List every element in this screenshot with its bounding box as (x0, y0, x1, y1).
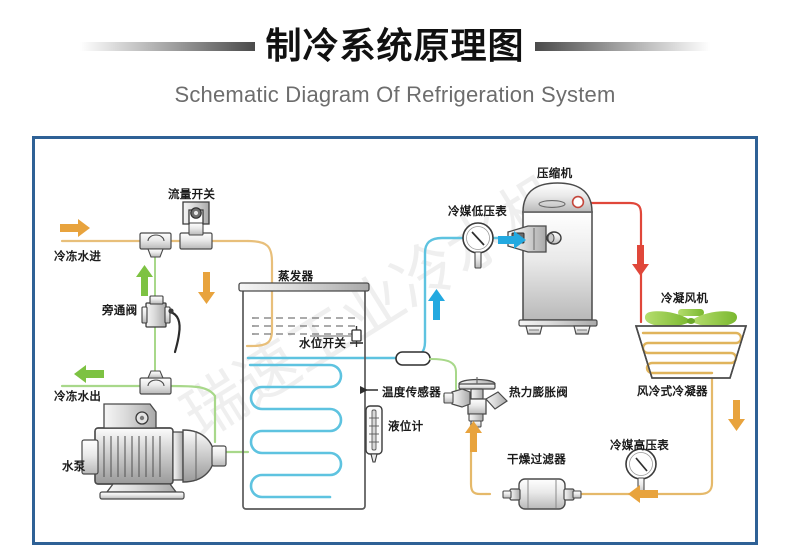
title-rule-right (535, 42, 710, 51)
page-title: 制冷系统原理图 (255, 24, 534, 68)
title-rule-left (80, 42, 255, 51)
label-hp-gauge: 冷媒高压表 (610, 437, 669, 453)
label-air-cooled-condenser: 风冷式冷凝器 (637, 383, 708, 399)
label-flow-switch: 流量开关 (168, 186, 215, 202)
label-chilled-water-in: 冷冻水进 (54, 248, 101, 264)
label-water-pump: 水泵 (62, 458, 86, 474)
label-bypass-valve: 旁通阀 (102, 302, 137, 318)
schematic-page: 制冷系统原理图 Schematic Diagram Of Refrigerati… (0, 0, 790, 556)
label-compressor: 压缩机 (537, 165, 572, 181)
label-chilled-water-out: 冷冻水出 (54, 388, 101, 404)
label-lp-gauge: 冷媒低压表 (448, 203, 507, 219)
label-temp-sensor: 温度传感器 (382, 384, 441, 400)
label-expansion-valve: 热力膨胀阀 (509, 384, 568, 400)
page-header: 制冷系统原理图 Schematic Diagram Of Refrigerati… (0, 0, 790, 128)
title-row: 制冷系统原理图 (0, 22, 790, 70)
label-liquid-level-gauge: 液位计 (388, 418, 423, 434)
diagram-panel (32, 136, 758, 545)
label-condenser-fan: 冷凝风机 (661, 290, 708, 306)
label-filter-drier: 干燥过滤器 (507, 451, 566, 467)
label-evaporator: 蒸发器 (278, 268, 313, 284)
label-water-level-switch: 水位开关 (299, 335, 346, 351)
page-subtitle: Schematic Diagram Of Refrigeration Syste… (0, 82, 790, 108)
